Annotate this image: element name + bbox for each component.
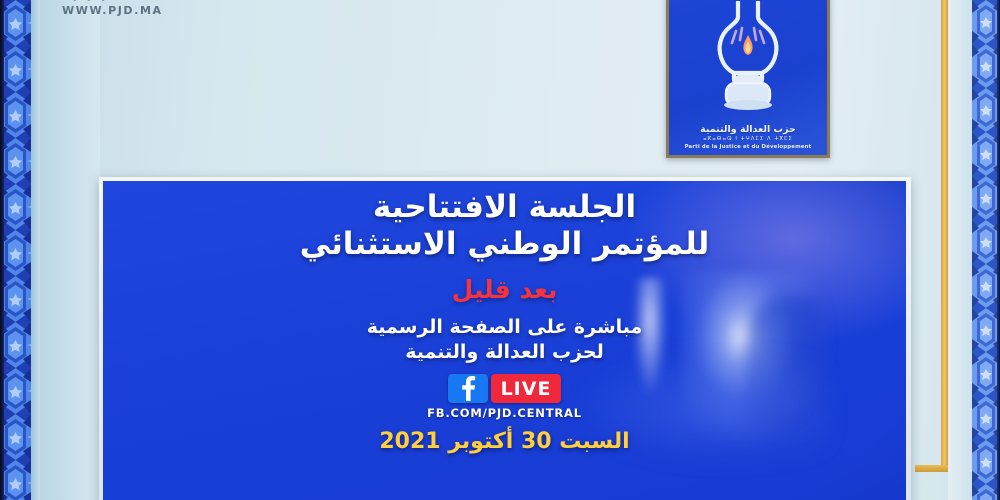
wall-seam-left bbox=[31, 0, 40, 500]
party-logo-plate: حزب العدالة والتنمية ⴰⴽⴰⴱⴰⵕ ⵏ ⵜⵖⴷⵎⵉ ⴷ ⵜⴳ… bbox=[666, 0, 830, 158]
live-note-line-1: مباشرة على الصفحة الرسمية bbox=[367, 315, 643, 340]
zellige-pattern-strip-right bbox=[972, 0, 1000, 500]
site-url-text: WWW.PJD.MA bbox=[62, 4, 163, 17]
event-date: السبت 30 أكتوبر 2021 bbox=[379, 429, 629, 454]
screenshot-stage: • • • WWW.PJD.MA bbox=[0, 0, 1000, 500]
live-badge[interactable]: LIVE bbox=[491, 374, 562, 403]
party-name-arabic: حزب العدالة والتنمية bbox=[669, 124, 827, 135]
live-note-line-2: لحزب العدالة والتنمية bbox=[405, 340, 603, 365]
facebook-page-url[interactable]: FB.COM/PJD.CENTRAL bbox=[427, 406, 582, 420]
facebook-f-icon[interactable] bbox=[448, 374, 488, 403]
presentation-screen-frame: الجلسة الافتتاحية للمؤتمر الوطني الاستثن… bbox=[99, 177, 911, 500]
party-logo-inner: حزب العدالة والتنمية ⴰⴽⴰⴱⴰⵕ ⵏ ⵜⵖⴷⵎⵉ ⴷ ⵜⴳ… bbox=[669, 0, 827, 155]
coming-soon-label: بعد قليل bbox=[452, 275, 558, 305]
party-name-french: Parti de la Justice et du Développement bbox=[669, 143, 827, 151]
facebook-live-row[interactable]: LIVE bbox=[448, 374, 562, 403]
oil-lamp-icon bbox=[692, 1, 804, 123]
party-logo-caption: حزب العدالة والتنمية ⴰⴽⴰⴱⴰⵕ ⵏ ⵜⵖⴷⵎⵉ ⴷ ⵜⴳ… bbox=[669, 124, 827, 151]
wall-right-panel bbox=[948, 0, 972, 500]
presentation-screen: الجلسة الافتتاحية للمؤتمر الوطني الاستثن… bbox=[103, 181, 906, 500]
slide-title-line-2: للمؤتمر الوطني الاستثنائي bbox=[300, 226, 710, 263]
zellige-pattern-strip-left bbox=[0, 0, 31, 500]
gold-trim-horizontal bbox=[915, 465, 948, 472]
gold-trim-vertical bbox=[941, 0, 948, 472]
slide-content: الجلسة الافتتاحية للمؤتمر الوطني الاستثن… bbox=[103, 181, 906, 500]
slide-title-line-1: الجلسة الافتتاحية bbox=[373, 189, 636, 226]
pattern-left-dark-edge bbox=[0, 0, 4, 500]
wall-left-panel bbox=[40, 0, 100, 500]
party-name-tifinagh: ⴰⴽⴰⴱⴰⵕ ⵏ ⵜⵖⴷⵎⵉ ⴷ ⵜⴳⵎⵉ bbox=[669, 135, 827, 143]
